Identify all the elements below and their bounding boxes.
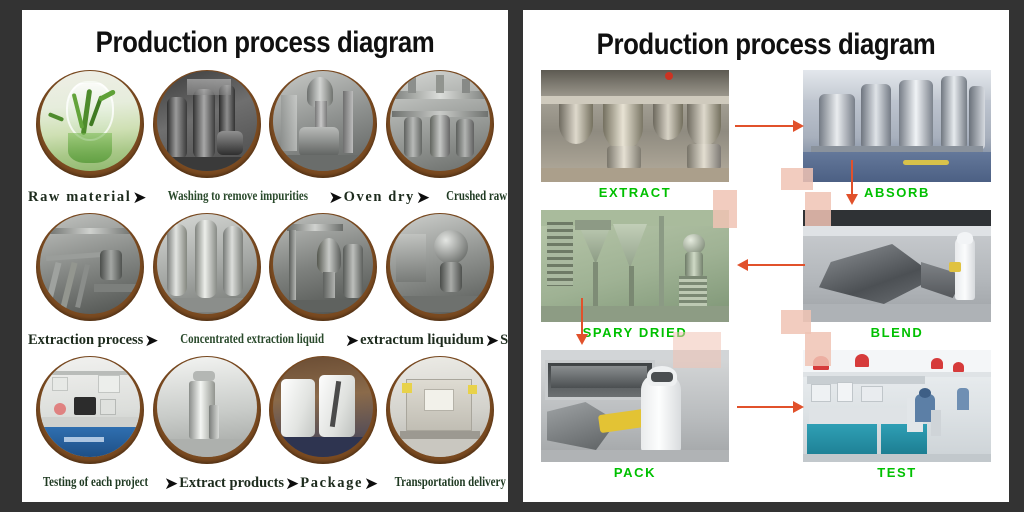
arrow-right-icon: ➤ — [344, 332, 360, 349]
step-label-extractum-liquidum: extractum liquidum — [360, 333, 484, 348]
step-thumb-oven-dry[interactable] — [269, 70, 377, 178]
watermark-block — [781, 168, 813, 190]
liquid-extract-vessels-image — [273, 214, 373, 314]
arrow-right-icon: ➤ — [131, 189, 147, 206]
extract-product-cans-image — [157, 357, 257, 457]
row-1-circles — [22, 70, 508, 180]
row-1-labels: Raw material ➤ Washing to remove impurit… — [22, 182, 508, 212]
arrow-right-icon: ➤ — [363, 475, 379, 492]
qc-laboratory-benches-image — [803, 350, 991, 462]
step-label-raw-material: Raw material — [28, 190, 131, 205]
flow-arrow-head-down-icon — [846, 194, 858, 205]
step-label-transportation-delivery: Transportation delivery — [395, 476, 506, 490]
left-panel-title: Production process diagram — [56, 26, 474, 60]
step-thumb-testing[interactable] — [36, 356, 144, 464]
flow-step-absorb[interactable]: ABSORB — [803, 70, 991, 210]
flow-arrow-extract-to-absorb — [735, 125, 795, 127]
screenshot-root: Production process diagram — [0, 0, 1024, 512]
step-label-crushed-raw-materials: Crushed raw materials — [446, 190, 508, 204]
absorption-column-room-image — [803, 70, 991, 182]
blender-operator-cleanroom-image — [803, 210, 991, 322]
row-3-circles — [22, 356, 508, 466]
arrow-right-icon: ➤ — [143, 332, 159, 349]
oven-drying-equipment-image — [273, 71, 373, 171]
step-thumb-washing[interactable] — [153, 70, 261, 178]
arrow-right-icon: ➤ — [484, 332, 500, 349]
photo-row-middle: SPARY DRIED BLEND — [541, 210, 991, 350]
flow-step-spary-dried[interactable]: SPARY DRIED — [541, 210, 729, 350]
right-panel-title: Production process diagram — [557, 28, 975, 62]
step-thumb-extract-products[interactable] — [153, 356, 261, 464]
flow-arrow-blend-to-spary-dried — [747, 264, 805, 266]
flow-step-extract[interactable]: EXTRACT — [541, 70, 729, 210]
caption-absorb: ABSORB — [803, 186, 991, 199]
flow-arrow-head-down-icon — [576, 334, 588, 345]
flow-step-blend[interactable]: BLEND — [803, 210, 991, 350]
step-thumb-raw-material[interactable] — [36, 70, 144, 178]
caption-test: TEST — [803, 466, 991, 479]
step-label-spray-drying: Spray drying — [500, 333, 508, 348]
step-label-testing-of-each-project: Testing of each project — [43, 476, 148, 490]
watermark-block — [713, 190, 737, 228]
caption-pack: PACK — [541, 466, 729, 479]
process-row-2: Extraction process ➤ Concentrated extrac… — [22, 213, 508, 356]
process-row-3: Testing of each project ➤ Extract produc… — [22, 356, 508, 499]
photo-flow-grid: EXTRACT ABSORB — [523, 70, 1009, 490]
flow-step-test[interactable]: TEST — [803, 350, 991, 490]
flow-arrow-absorb-to-blend — [851, 160, 853, 196]
row-2-labels: Extraction process ➤ Concentrated extrac… — [22, 325, 508, 355]
arrow-right-icon: ➤ — [163, 475, 179, 492]
step-thumb-concentrated-liquid[interactable] — [153, 213, 261, 321]
palletized-cartons-shipment-image — [390, 357, 490, 457]
flow-arrow-head-left-icon — [737, 259, 748, 271]
row-2-circles — [22, 213, 508, 323]
step-thumb-extraction-process[interactable] — [36, 213, 144, 321]
raw-herb-in-glass-flask-image — [40, 71, 140, 171]
right-panel: Production process diagram — [523, 10, 1009, 502]
packaged-white-bags-image — [273, 357, 373, 457]
step-label-washing: Washing to remove impurities — [167, 190, 307, 204]
step-label-oven-dry: Oven dry — [344, 190, 415, 205]
left-panel: Production process diagram — [22, 10, 508, 502]
step-thumb-transportation[interactable] — [386, 356, 494, 464]
watermark-block — [805, 332, 831, 366]
step-thumb-package[interactable] — [269, 356, 377, 464]
watermark-block — [673, 332, 721, 368]
arrow-right-icon: ➤ — [284, 475, 300, 492]
arrow-right-icon: ➤ — [415, 189, 431, 206]
photo-row-bottom: PACK — [541, 350, 991, 490]
step-label-package: Package — [300, 476, 363, 491]
concentration-tanks-image — [157, 214, 257, 314]
caption-extract: EXTRACT — [541, 186, 729, 199]
step-label-extract-products: Extract products — [179, 476, 284, 491]
row-3-labels: Testing of each project ➤ Extract produc… — [22, 468, 508, 498]
extraction-plant-stairs-image — [40, 214, 140, 314]
watermark-block — [781, 310, 811, 334]
step-label-concentrated-extraction-liquid: Concentrated extraction liquid — [180, 333, 324, 347]
caption-blend: BLEND — [803, 326, 991, 339]
crushing-line-equipment-image — [390, 71, 490, 171]
step-thumb-spray-drying[interactable] — [386, 213, 494, 321]
process-row-1: Raw material ➤ Washing to remove impurit… — [22, 70, 508, 213]
watermark-block — [805, 192, 831, 226]
photo-row-top: EXTRACT ABSORB — [541, 70, 991, 210]
flow-step-pack[interactable]: PACK — [541, 350, 729, 490]
step-label-extraction-process: Extraction process — [28, 333, 143, 348]
step-thumb-crushed-raw[interactable] — [386, 70, 494, 178]
flow-arrow-head-right-icon — [793, 120, 804, 132]
flow-arrow-spary-dried-to-pack — [581, 298, 583, 336]
flow-arrow-pack-to-test — [737, 406, 795, 408]
process-rows: Raw material ➤ Washing to remove impurit… — [22, 70, 508, 499]
spray-dry-tower-room-image — [541, 210, 729, 322]
step-thumb-extractum-liquidum[interactable] — [269, 213, 377, 321]
spray-dryer-machine-image — [390, 214, 490, 314]
arrow-right-icon: ➤ — [327, 189, 343, 206]
flow-arrow-head-right-icon — [793, 401, 804, 413]
extraction-tanks-hall-image — [541, 70, 729, 182]
washing-tanks-equipment-image — [157, 71, 257, 171]
laboratory-bench-testing-image — [40, 357, 140, 457]
